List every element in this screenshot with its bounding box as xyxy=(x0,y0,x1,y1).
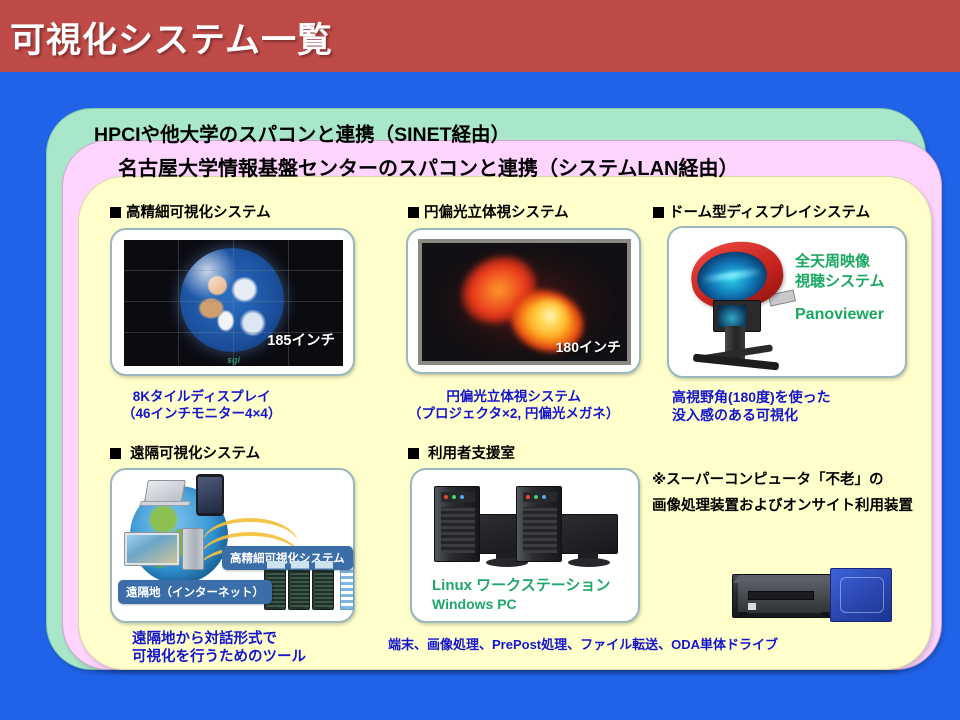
tape-drive-body xyxy=(732,574,836,618)
caption-line2: （プロジェクタ×2, 円偏光メガネ） xyxy=(408,406,619,423)
rack-top-panel xyxy=(267,561,285,569)
tile-gridline xyxy=(233,240,234,366)
dome-image-streak xyxy=(701,268,763,284)
led-green-icon xyxy=(452,495,456,499)
laptop-icon xyxy=(140,480,190,510)
cartridge-ring xyxy=(840,577,884,613)
section-header-support-room: 利用者支援室 xyxy=(408,442,515,463)
laptop-screen xyxy=(144,480,186,502)
title-bar: 可視化システム一覧 xyxy=(0,0,960,72)
section-header-remote-visualization: 遠隔可視化システム xyxy=(110,442,260,463)
card-remote-visualization: 高精細可視化システム 遠隔地（インターネット） xyxy=(110,468,355,623)
tower-drive-bays xyxy=(441,507,475,553)
tile-gridline xyxy=(124,270,343,271)
network-switch-icon xyxy=(340,564,354,610)
section-header-dome-display: ドーム型ディスプレイシステム xyxy=(653,201,870,222)
note-line1: ※スーパーコンピュータ「不老」の xyxy=(652,468,883,489)
led-blue-icon xyxy=(542,495,546,499)
tower-led-panel xyxy=(441,492,475,502)
caption-support-room: 端末、画像処理、PrePost処理、ファイル転送、ODA単体ドライブ xyxy=(388,637,778,653)
section-title: 円偏光立体視システム xyxy=(424,205,569,221)
card-support-room: Linux ワークステーション Windows PC xyxy=(410,468,640,623)
monitor-icon xyxy=(556,514,618,554)
pc-tower-icon xyxy=(434,486,480,562)
workstation-unit xyxy=(516,486,626,568)
display-bezel: 180インチ xyxy=(418,239,631,365)
caption-line1: 円偏光立体視システム xyxy=(408,389,619,406)
tape-drive-foot xyxy=(821,612,829,617)
server-rack-icon xyxy=(288,558,310,610)
rack-top-panel xyxy=(291,561,309,569)
caption-dome-display: 高視野角(180度)を使った 没入感のある可視化 xyxy=(672,389,831,424)
section-title: 遠隔可視化システム xyxy=(130,446,260,462)
monitor-foot xyxy=(568,558,610,567)
note-line2: 画像処理装置およびオンサイト利用装置 xyxy=(652,494,913,515)
square-bullet-icon xyxy=(110,448,121,459)
tape-drive-eject-button xyxy=(748,603,756,610)
square-bullet-icon xyxy=(408,207,419,218)
led-blue-icon xyxy=(460,495,464,499)
section-title: ドーム型ディスプレイシステム xyxy=(669,205,870,221)
caption-line2: 可視化を行うためのツール xyxy=(132,648,306,666)
laptop-base xyxy=(139,501,191,506)
caption-remote-visualization: 遠隔地から対話形式で 可視化を行うためのツール xyxy=(132,630,306,666)
led-red-icon xyxy=(444,495,448,499)
pc-tower-icon xyxy=(516,486,562,562)
sgi-logo: sgi xyxy=(227,355,240,365)
section-title: 高精細可視化システム xyxy=(126,205,271,221)
tape-drive-foot xyxy=(739,612,747,617)
tiled-display-screen: 185インチ sgi xyxy=(124,240,343,366)
tape-cartridge-icon xyxy=(830,568,892,622)
card-hires-display: 185インチ sgi xyxy=(110,228,355,376)
panel-heading-nagoya: 名古屋大学情報基盤センターのスパコンと連携（システムLAN経由） xyxy=(118,152,739,181)
square-bullet-icon xyxy=(653,207,664,218)
screen-size-label: 180インチ xyxy=(556,337,621,357)
led-red-icon xyxy=(526,495,530,499)
led-green-icon xyxy=(534,495,538,499)
card-dome-display: 全天周映像 視聴システム Panoviewer xyxy=(667,226,907,378)
workstation-label-linux: Linux ワークステーション xyxy=(432,574,610,595)
desktop-monitor-icon xyxy=(124,532,180,566)
tag-hires-visualization-system: 高精細可視化システム xyxy=(222,546,353,570)
stereo-display-screen: 180インチ xyxy=(422,243,627,361)
rack-top-panel xyxy=(315,561,333,569)
square-bullet-icon xyxy=(408,448,419,459)
caption-stereo-display: 円偏光立体視システム （プロジェクタ×2, 円偏光メガネ） xyxy=(408,389,619,423)
panoviewer-product-name: Panoviewer xyxy=(795,306,884,324)
section-header-hires-visualization: 高精細可視化システム xyxy=(110,201,271,222)
screen-size-label: 185インチ xyxy=(267,329,335,350)
caption-line1: 遠隔地から対話形式で xyxy=(132,630,306,648)
tower-drive-bays xyxy=(523,507,557,553)
slide-root: 可視化システム一覧 HPCIや他大学のスパコンと連携（SINET経由） 名古屋大… xyxy=(0,0,960,720)
page-title: 可視化システム一覧 xyxy=(10,12,333,63)
caption-line2: 没入感のある可視化 xyxy=(672,407,831,425)
card-stereo-display: 180インチ xyxy=(406,228,641,374)
plasma-core xyxy=(530,299,570,333)
tower-pc-icon xyxy=(182,528,204,570)
tower-led-panel xyxy=(523,492,557,502)
console-screen xyxy=(718,305,746,327)
tile-gridline xyxy=(178,240,179,366)
square-bullet-icon xyxy=(110,207,121,218)
caption-line2: （46インチモニター4×4） xyxy=(122,406,281,423)
tablet-screen xyxy=(198,477,222,513)
workstation-label-windows: Windows PC xyxy=(432,596,517,612)
caption-line1: 8Kタイルディスプレイ xyxy=(122,389,281,406)
tape-drive-image xyxy=(732,568,912,624)
tape-drive-slot xyxy=(748,591,814,600)
caption-line1: 高視野角(180度)を使った xyxy=(672,389,831,407)
tape-drive-front-panel xyxy=(738,581,830,613)
monitor-screen xyxy=(127,535,177,563)
tile-gridline xyxy=(124,301,343,302)
panel-heading-hpci: HPCIや他大学のスパコンと連携（SINET経由） xyxy=(94,118,510,147)
dome-label-line1: 全天周映像 xyxy=(795,250,870,271)
section-title: 利用者支援室 xyxy=(428,446,515,462)
caption-hires-display: 8Kタイルディスプレイ （46インチモニター4×4） xyxy=(122,389,281,423)
tablet-icon xyxy=(196,474,224,516)
server-rack-icon xyxy=(312,558,334,610)
section-header-stereo-visualization: 円偏光立体視システム xyxy=(408,201,569,222)
dome-label-line2: 視聴システム xyxy=(795,270,885,291)
tag-remote-internet: 遠隔地（インターネット） xyxy=(118,580,272,604)
panoviewer-device-image xyxy=(683,238,793,374)
